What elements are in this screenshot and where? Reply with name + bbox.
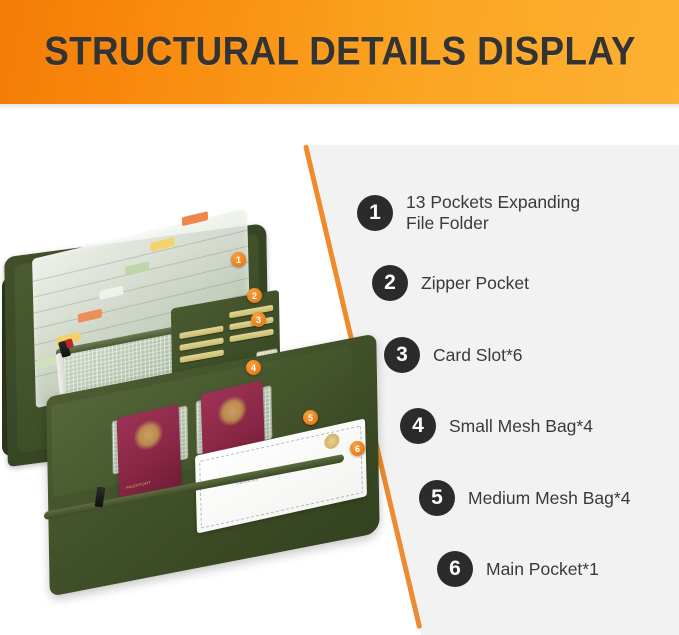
feature-label-3: Card Slot*6 [433, 345, 523, 366]
feature-number-2: 2 [372, 265, 408, 301]
feature-number-6: 6 [437, 551, 473, 587]
photo-badge-4: 4 [246, 360, 261, 375]
header-banner: STRUCTURAL DETAILS DISPLAY [0, 0, 679, 104]
infographic-page: STRUCTURAL DETAILS DISPLAY [0, 0, 679, 635]
page-title: STRUCTURAL DETAILS DISPLAY [44, 30, 636, 75]
folder-tab [182, 211, 208, 226]
feature-item-4[interactable]: 4 Small Mesh Bag*4 [400, 408, 593, 444]
feature-label-6: Main Pocket*1 [486, 559, 599, 580]
feature-label-4: Small Mesh Bag*4 [449, 416, 593, 437]
feature-item-6[interactable]: 6 Main Pocket*1 [437, 551, 599, 587]
photo-badge-1: 1 [231, 252, 246, 267]
photo-badge-3: 3 [251, 312, 266, 327]
feature-number-3: 3 [384, 337, 420, 373]
feature-label-2: Zipper Pocket [421, 273, 529, 294]
feature-number-1: 1 [357, 195, 393, 231]
header-shadow-divider [0, 104, 679, 110]
feature-number-4: 4 [400, 408, 436, 444]
folder-tab [125, 261, 149, 276]
product-photo: PASSPORT PASSPORT Certificate [0, 215, 400, 585]
feature-item-5[interactable]: 5 Medium Mesh Bag*4 [419, 480, 630, 516]
folder-tab [99, 285, 123, 300]
photo-badge-2: 2 [247, 288, 262, 303]
folder-tab [78, 308, 102, 323]
feature-item-2[interactable]: 2 Zipper Pocket [372, 265, 529, 301]
feature-item-1[interactable]: 1 13 Pockets Expanding File Folder [357, 192, 580, 234]
photo-badge-6: 6 [350, 441, 365, 456]
photo-badge-5: 5 [303, 410, 318, 425]
feature-label-5: Medium Mesh Bag*4 [468, 488, 630, 509]
feature-number-5: 5 [419, 480, 455, 516]
feature-item-3[interactable]: 3 Card Slot*6 [384, 337, 523, 373]
feature-label-1: 13 Pockets Expanding File Folder [406, 192, 580, 234]
